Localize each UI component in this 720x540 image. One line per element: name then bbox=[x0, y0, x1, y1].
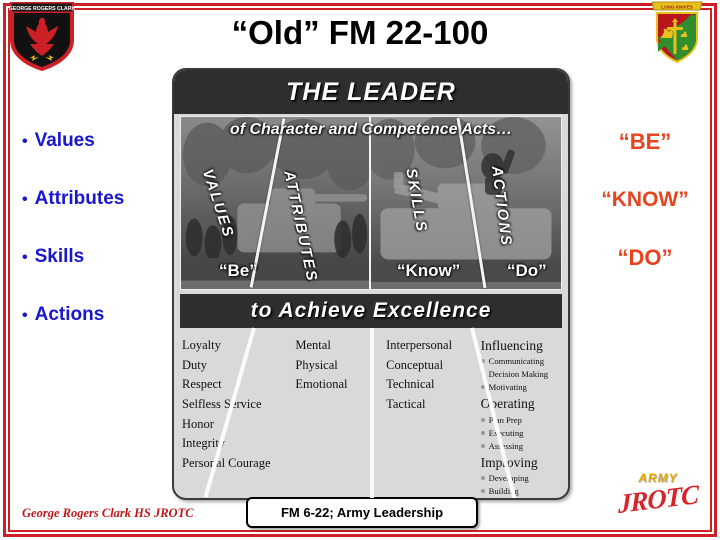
action-sub-item: Assessing bbox=[481, 440, 560, 453]
bullet-dot-icon: • bbox=[22, 134, 28, 150]
army-jrotc-logo-icon: ARMY JROTC bbox=[612, 472, 704, 526]
slide-canvas: GEORGE ROGERS CLARK LONG KNIVES bbox=[0, 0, 720, 540]
list-item-skills: • Skills bbox=[22, 246, 162, 304]
bullet-dot-icon: • bbox=[22, 308, 28, 324]
diagram-band-the-leader: THE LEADER bbox=[174, 70, 568, 114]
action-sub-item: Learning bbox=[481, 498, 560, 500]
page-title: “Old” FM 22-100 bbox=[150, 14, 570, 52]
keyword-be: “BE” bbox=[580, 130, 710, 188]
column-item: Personal Courage bbox=[182, 454, 295, 474]
keyword-know: “KNOW” bbox=[580, 188, 710, 246]
bullet-dot-icon: • bbox=[22, 250, 28, 266]
keyword-do: “DO” bbox=[580, 246, 710, 304]
diagram-subtitle: of Character and Competence Acts… bbox=[181, 121, 561, 139]
photo-label-know: “Know” bbox=[397, 261, 460, 281]
logo-jrotc-text: JROTC bbox=[612, 478, 704, 519]
list-item-attributes: • Attributes bbox=[22, 188, 162, 246]
svg-text:LONG KNIVES: LONG KNIVES bbox=[661, 4, 693, 9]
callout-box: FM 6-22; Army Leadership bbox=[246, 497, 478, 528]
diagram-band-achieve-excellence: to Achieve Excellence bbox=[180, 294, 562, 328]
bullet-dot-icon: • bbox=[22, 192, 28, 208]
action-sub-item: Executing bbox=[481, 427, 560, 440]
column-item: Tactical bbox=[386, 395, 481, 415]
column-divider-2 bbox=[370, 328, 374, 500]
list-item-label: Values bbox=[35, 130, 95, 152]
list-item-actions: • Actions bbox=[22, 304, 162, 362]
list-item-label: Actions bbox=[35, 304, 105, 326]
list-item-label: Attributes bbox=[35, 188, 125, 210]
left-bullet-list: • Values • Attributes • Skills • Actions bbox=[22, 130, 162, 362]
leader-framework-diagram: THE LEADER bbox=[172, 68, 570, 500]
footer-school-name: George Rogers Clark HS JROTC bbox=[22, 506, 194, 521]
column-item: Interpersonal bbox=[386, 336, 481, 356]
column-item: Loyalty bbox=[182, 336, 295, 356]
action-sub-item: Developing bbox=[481, 472, 560, 485]
george-rogers-clark-crest-icon: GEORGE ROGERS CLARK bbox=[6, 0, 78, 72]
photo-panel-left: VALUES ATTRIBUTES “Be” bbox=[181, 117, 371, 289]
callout-label: FM 6-22; Army Leadership bbox=[281, 505, 443, 520]
column-values: Loyalty Duty Respect Selfless Service Ho… bbox=[182, 336, 295, 498]
right-keyword-list: “BE” “KNOW” “DO” bbox=[580, 130, 710, 304]
svg-text:GEORGE ROGERS CLARK: GEORGE ROGERS CLARK bbox=[9, 6, 76, 12]
diagram-photo-strip: VALUES ATTRIBUTES “Be” bbox=[180, 116, 562, 290]
column-item: Integrity bbox=[182, 434, 295, 454]
photo-label-be: “Be” bbox=[219, 261, 258, 281]
column-item: Conceptual bbox=[386, 356, 481, 376]
column-item: Technical bbox=[386, 375, 481, 395]
list-item-values: • Values bbox=[22, 130, 162, 188]
action-sub-item: Motivating bbox=[481, 381, 560, 394]
photo-panel-right: SKILLS ACTIONS “Know” “Do” bbox=[371, 117, 561, 289]
photo-label-do: “Do” bbox=[507, 261, 547, 281]
column-item: Honor bbox=[182, 415, 295, 435]
column-item: Selfless Service bbox=[182, 395, 295, 415]
action-sub-item: Communicating bbox=[481, 355, 560, 368]
action-group-title-influencing: Influencing bbox=[481, 337, 560, 355]
action-sub-item: Building bbox=[481, 485, 560, 498]
list-item-label: Skills bbox=[35, 246, 85, 268]
column-skills: Interpersonal Conceptual Technical Tacti… bbox=[386, 336, 481, 498]
action-group-title-improving: Improving bbox=[481, 454, 560, 472]
action-sub-item: Decision Making bbox=[481, 368, 560, 381]
jrotc-unit-crest-icon: LONG KNIVES bbox=[640, 0, 714, 66]
